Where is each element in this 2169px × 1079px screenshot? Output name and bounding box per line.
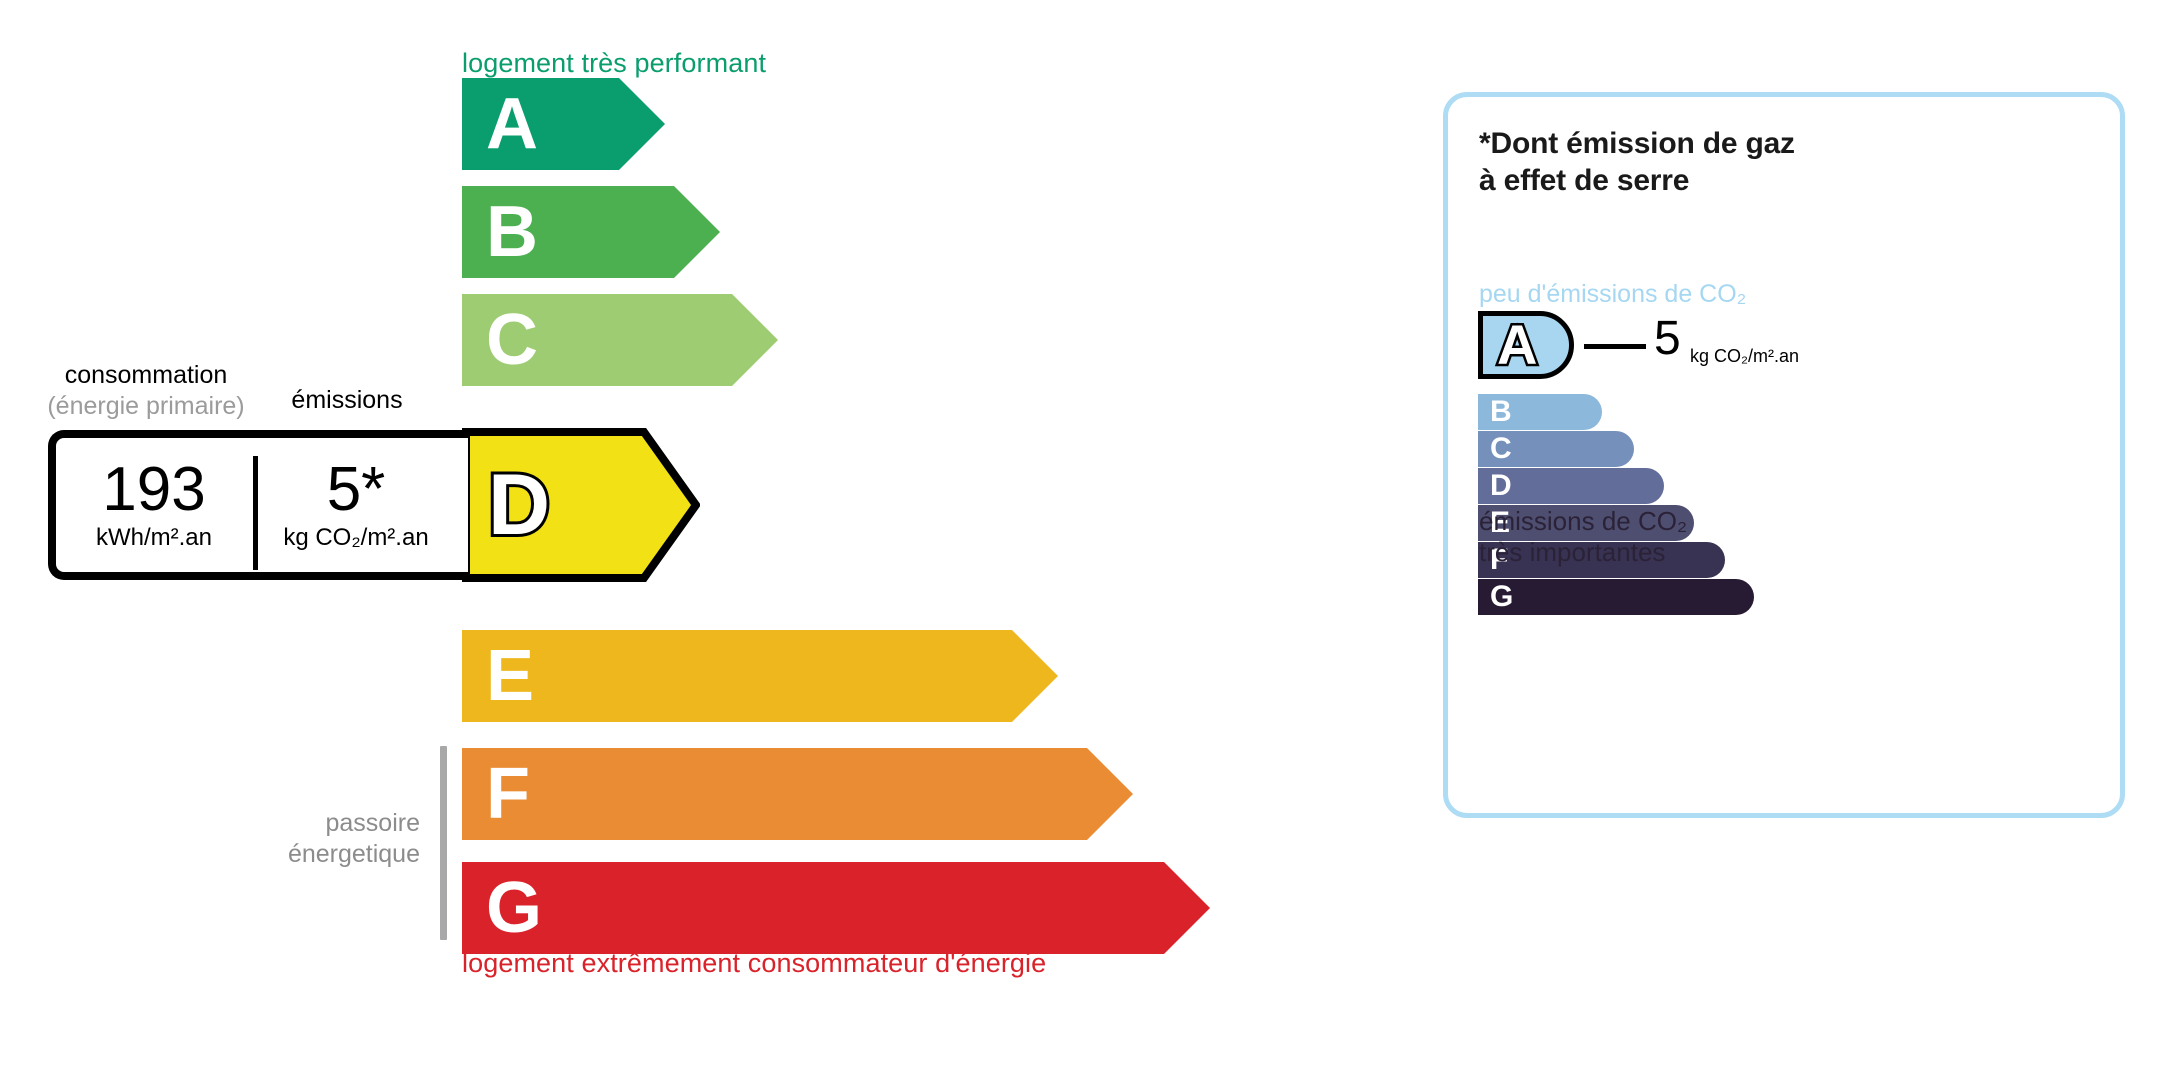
co2-value: 5 xyxy=(1654,315,1681,363)
energy-class-row-g: G xyxy=(462,862,1210,954)
emission-unit: kg CO₂/m².an xyxy=(256,525,456,551)
energy-class-arrow-f xyxy=(462,748,1133,840)
energy-class-row-b: B xyxy=(462,186,720,278)
energy-class-row-d: D xyxy=(462,428,700,582)
energy-class-arrow-e xyxy=(462,630,1058,722)
emission-value-cell: 5* kg CO₂/m².an xyxy=(256,438,456,572)
co2-class-letter-c: C xyxy=(1490,434,1512,464)
co2-bottom-label-line2: très importantes xyxy=(1479,537,1687,568)
co2-class-bar-b: B xyxy=(1478,394,1602,430)
co2-class-letter-b: B xyxy=(1490,397,1512,427)
scale-bottom-label: logement extrêmement consommateur d'éner… xyxy=(462,948,1046,979)
energy-class-row-c: C xyxy=(462,294,778,386)
co2-class-bar-g: G xyxy=(1478,579,1754,615)
co2-class-bar-c: C xyxy=(1478,431,1634,467)
energy-class-arrow-g xyxy=(462,862,1210,954)
co2-connector-line xyxy=(1584,344,1646,349)
co2-bottom-label: émissions de CO₂ très importantes xyxy=(1479,506,1687,567)
consumption-label: consommation (énergie primaire) xyxy=(46,360,246,421)
consumption-label-line1: consommation xyxy=(46,360,246,391)
co2-title-line2: à effet de serre xyxy=(1479,163,1795,200)
co2-emissions-panel: *Dont émission de gaz à effet de serre p… xyxy=(1443,92,2125,818)
co2-class-bar-d: D xyxy=(1478,468,1664,504)
energy-class-arrow-c xyxy=(462,294,778,386)
energy-class-row-e: E xyxy=(462,630,1058,722)
co2-class-letter-d: D xyxy=(1490,471,1512,501)
measurement-value-box: 193 kWh/m².an 5* kg CO₂/m².an xyxy=(48,430,468,580)
co2-class-letter-a: A xyxy=(1497,317,1537,373)
energy-class-row-a: A xyxy=(462,78,665,170)
energy-performance-panel: logement très performant A B C D E xyxy=(0,0,1420,1079)
consumption-unit: kWh/m².an xyxy=(56,525,252,551)
passoire-bracket-line xyxy=(440,746,447,940)
co2-panel-title: *Dont émission de gaz à effet de serre xyxy=(1479,126,1795,199)
emission-value: 5* xyxy=(256,459,456,521)
consumption-value: 193 xyxy=(56,459,252,521)
passoire-label: passoire énergetique xyxy=(200,808,420,871)
co2-class-badge-a: A xyxy=(1478,311,1574,379)
value-box-divider xyxy=(253,456,258,570)
energy-class-arrow-d xyxy=(462,428,700,582)
energy-class-arrow-a xyxy=(462,78,665,170)
co2-bottom-label-line1: émissions de CO₂ xyxy=(1479,506,1687,537)
passoire-label-line1: passoire xyxy=(200,808,420,839)
emissions-label: émissions xyxy=(252,386,442,415)
co2-class-letter-g: G xyxy=(1490,582,1513,612)
energy-class-row-f: F xyxy=(462,748,1133,840)
consumption-label-line2: (énergie primaire) xyxy=(46,391,246,422)
co2-title-line1: *Dont émission de gaz xyxy=(1479,126,1795,163)
co2-top-label: peu d'émissions de CO₂ xyxy=(1479,280,1746,309)
energy-class-arrow-b xyxy=(462,186,720,278)
passoire-label-line2: énergetique xyxy=(200,839,420,870)
scale-top-label: logement très performant xyxy=(462,48,766,79)
consumption-value-cell: 193 kWh/m².an xyxy=(56,438,252,572)
co2-value-unit: kg CO₂/m².an xyxy=(1690,346,1799,367)
